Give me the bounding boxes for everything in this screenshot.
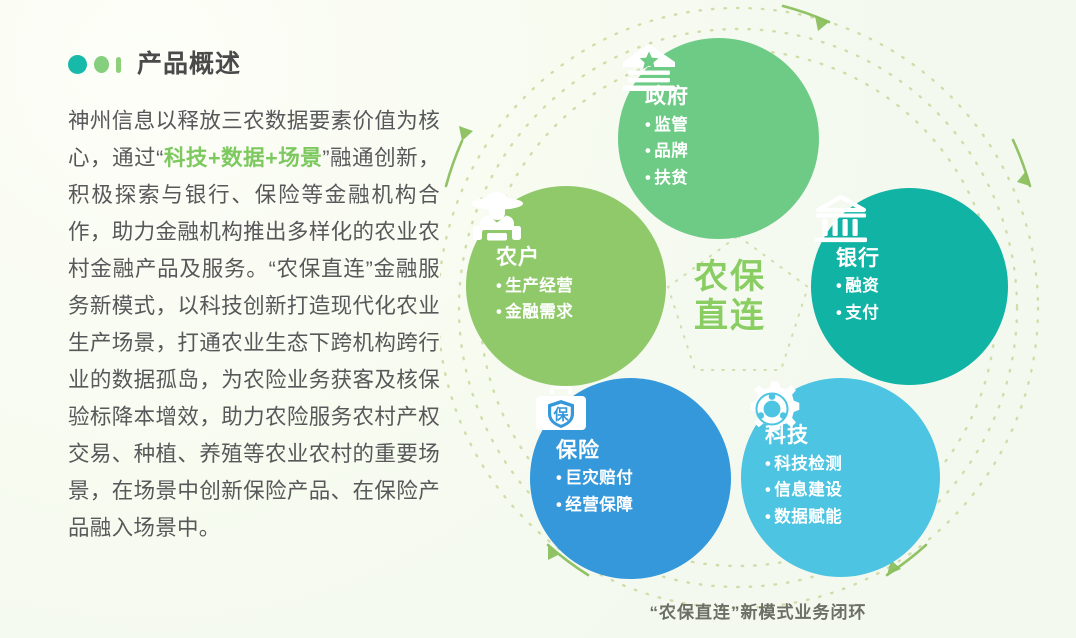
insurance-glyph: 保 bbox=[552, 406, 569, 424]
overview-panel: 产品概述 神州信息以释放三农数据要素价值为核心，通过“科技+数据+场景”融通创新… bbox=[68, 52, 440, 569]
node-insurance-item-1: 经营保障 bbox=[556, 492, 633, 519]
node-farmer-title: 农户 bbox=[496, 246, 573, 270]
paragraph-highlight: 科技+数据+场景 bbox=[164, 146, 323, 170]
node-technology[interactable]: 科技 科技检测 信息建设 数据赋能 bbox=[741, 378, 940, 577]
node-farmer-text: 农户 生产经营 金融需求 bbox=[496, 246, 573, 326]
node-bank-title: 银行 bbox=[836, 247, 880, 271]
node-insurance-text: 保险 巨灾赔付 经营保障 bbox=[556, 439, 633, 519]
node-farmer-item-1: 金融需求 bbox=[496, 299, 573, 326]
diagram-center-label: 农保 直连 bbox=[656, 258, 804, 336]
node-insurance-item-0: 巨灾赔付 bbox=[556, 465, 633, 492]
node-insurance-title: 保险 bbox=[556, 439, 633, 463]
node-technology-item-2: 数据赋能 bbox=[765, 504, 842, 531]
node-farmer[interactable]: 农户 生产经营 金融需求 bbox=[466, 186, 666, 386]
business-loop-diagram: 政府 监管 品牌 扶贫 银行 融资 支付 bbox=[440, 0, 1076, 638]
node-technology-text: 科技 科技检测 信息建设 数据赋能 bbox=[765, 424, 842, 531]
large-dot-icon bbox=[68, 55, 87, 74]
diagram-caption: “农保直连”新模式业务闭环 bbox=[440, 598, 1076, 623]
government-building-icon bbox=[618, 38, 680, 100]
insurance-briefcase-shield-icon: 保 bbox=[530, 378, 592, 440]
node-bank[interactable]: 银行 融资 支付 bbox=[811, 188, 1008, 385]
section-header: 产品概述 bbox=[68, 52, 440, 77]
bank-columns-icon bbox=[811, 188, 871, 248]
node-insurance[interactable]: 保 保险 巨灾赔付 经营保障 bbox=[530, 378, 731, 579]
overview-paragraph: 神州信息以释放三农数据要素价值为核心，通过“科技+数据+场景”融通创新，积极探索… bbox=[68, 103, 440, 547]
slide-canvas: 产品概述 神州信息以释放三农数据要素价值为核心，通过“科技+数据+场景”融通创新… bbox=[0, 0, 1076, 638]
center-line-2: 直连 bbox=[656, 297, 804, 336]
page-title: 产品概述 bbox=[137, 52, 241, 77]
node-technology-item-0: 科技检测 bbox=[765, 451, 842, 478]
node-bank-item-1: 支付 bbox=[836, 300, 880, 327]
node-technology-item-1: 信息建设 bbox=[765, 477, 842, 504]
farmer-with-hat-icon bbox=[466, 186, 528, 248]
paragraph-part-2: ”融通创新，积极探索与银行、保险等金融机构合作，助力金融机构推出多样化的农业农村… bbox=[68, 146, 440, 540]
node-government-item-2: 扶贫 bbox=[645, 165, 689, 192]
small-bar-icon bbox=[116, 57, 121, 73]
medium-dot-icon bbox=[94, 56, 109, 73]
node-government-item-1: 品牌 bbox=[645, 138, 689, 165]
node-government[interactable]: 政府 监管 品牌 扶贫 bbox=[618, 38, 819, 239]
node-government-item-0: 监管 bbox=[645, 112, 689, 139]
center-line-1: 农保 bbox=[656, 258, 804, 297]
node-bank-item-0: 融资 bbox=[836, 273, 880, 300]
node-farmer-item-0: 生产经营 bbox=[496, 273, 573, 300]
node-bank-text: 银行 融资 支付 bbox=[836, 247, 880, 327]
gear-icon bbox=[741, 378, 803, 440]
node-government-text: 政府 监管 品牌 扶贫 bbox=[645, 85, 689, 192]
